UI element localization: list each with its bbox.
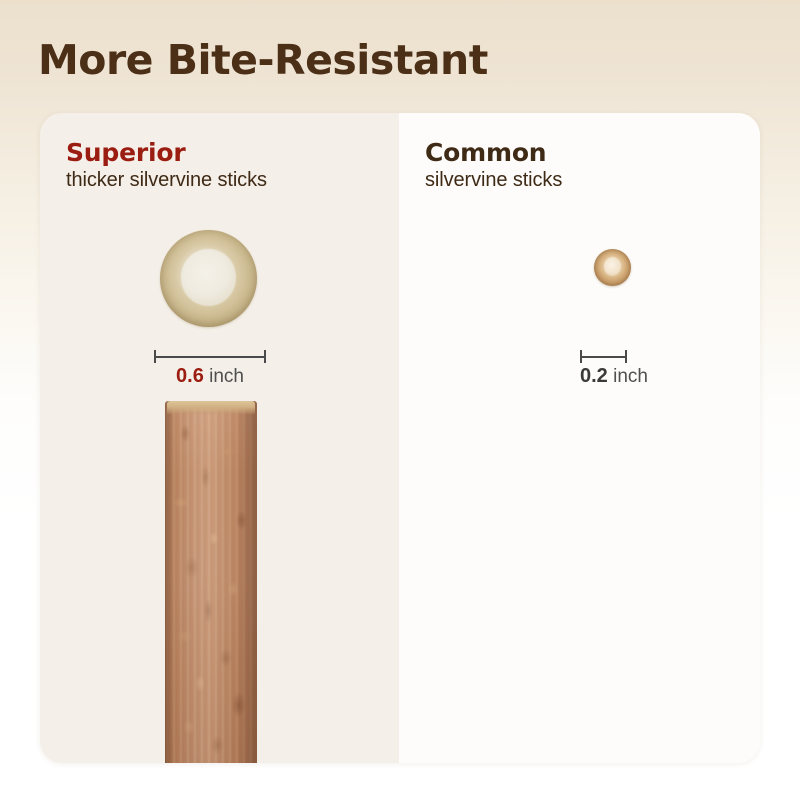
- panel-superior-heading: Superior thicker silvervine sticks: [66, 139, 267, 191]
- panel-superior-subtitle: thicker silvervine sticks: [66, 169, 267, 191]
- thick-stick-cross-section: [160, 230, 257, 327]
- comparison-card: Superior thicker silvervine sticks 0.6 i…: [40, 113, 760, 763]
- measure-cap-right-icon: [625, 350, 627, 363]
- panel-common-heading: Common silvervine sticks: [425, 139, 562, 191]
- thin-stick-diameter-unit: inch: [613, 366, 648, 387]
- panel-common-title: Common: [425, 139, 562, 167]
- measure-line: [154, 356, 266, 358]
- measure-line: [580, 356, 627, 358]
- page-title: More Bite-Resistant: [38, 36, 488, 84]
- thick-stick-diameter-unit: inch: [209, 366, 244, 387]
- thin-stick-measure-bar: 0.2 inch: [580, 350, 627, 363]
- panel-superior: Superior thicker silvervine sticks 0.6 i…: [40, 113, 399, 763]
- thin-stick-diameter-value: 0.2: [580, 365, 608, 387]
- measure-cap-right-icon: [264, 350, 266, 363]
- thin-stick-measure-label: 0.2 inch: [580, 365, 627, 388]
- thick-stick-diameter-value: 0.6: [176, 365, 204, 387]
- panel-superior-title: Superior: [66, 139, 267, 167]
- panel-common: Common silvervine sticks 0.2 inch: [399, 113, 760, 763]
- thick-silvervine-stick: [165, 401, 257, 763]
- thick-stick-measure-label: 0.6 inch: [154, 365, 266, 388]
- thin-stick-cross-section: [594, 249, 631, 286]
- comparison-infographic: More Bite-Resistant Superior thicker sil…: [0, 0, 800, 800]
- panel-common-subtitle: silvervine sticks: [425, 169, 562, 191]
- thick-stick-measure-bar: 0.6 inch: [154, 350, 266, 363]
